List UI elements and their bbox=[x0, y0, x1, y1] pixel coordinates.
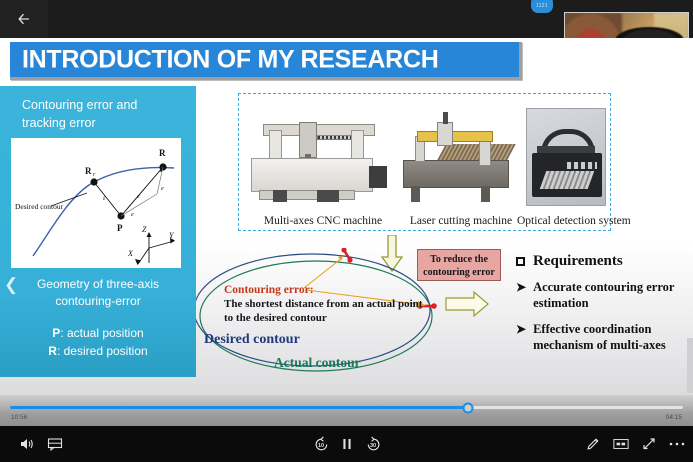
notification-badge[interactable]: 1121 bbox=[531, 0, 553, 13]
remaining-time: 04:15 bbox=[666, 414, 682, 421]
slide-right-edge bbox=[687, 338, 693, 393]
svg-text:ε: ε bbox=[103, 194, 106, 202]
figure-caption: Geometry of three-axis contouring-error bbox=[8, 276, 188, 311]
svg-text:e: e bbox=[161, 186, 164, 192]
recorded-lecture-player: 1121 Cai Yong INTRODUCTION OF MY RESEARC… bbox=[0, 0, 693, 462]
svg-text:Desired contour: Desired contour bbox=[15, 202, 64, 211]
requirement-item: ➤ Effective coordination mechanism of mu… bbox=[516, 322, 693, 353]
volume-button[interactable] bbox=[12, 426, 42, 462]
svg-text:Z: Z bbox=[142, 225, 147, 234]
requirements-title-row: Requirements bbox=[516, 253, 693, 270]
desired-contour-label: Desired contour bbox=[204, 332, 300, 348]
seek-bar-fill bbox=[10, 406, 468, 409]
legend-text-p: : actual position bbox=[60, 326, 143, 340]
optical-detection-image bbox=[526, 108, 606, 206]
pencil-icon bbox=[585, 436, 601, 452]
seek-bar[interactable] bbox=[10, 406, 683, 409]
progress-bar-area: 10:56 04:15 bbox=[0, 395, 693, 426]
requirements-title: Requirements bbox=[533, 253, 623, 270]
expand-icon bbox=[641, 436, 657, 452]
captions-button[interactable] bbox=[606, 426, 636, 462]
requirement-text: Effective coordination mechanism of mult… bbox=[533, 322, 693, 353]
requirement-item: ➤ Accurate contouring error estimation bbox=[516, 280, 693, 311]
elapsed-time: 10:56 bbox=[11, 414, 27, 421]
more-options-button[interactable] bbox=[662, 426, 692, 462]
closed-captions-icon bbox=[613, 437, 629, 451]
slide-title-banner: INTRODUCTION OF MY RESEARCH bbox=[10, 42, 522, 80]
svg-text:R: R bbox=[159, 148, 166, 158]
arrow-bullet-icon: ➤ bbox=[516, 322, 526, 353]
arrow-bullet-icon: ➤ bbox=[516, 280, 526, 311]
slide-content: INTRODUCTION OF MY RESEARCH Contouring e… bbox=[0, 38, 693, 395]
slide-title: INTRODUCTION OF MY RESEARCH bbox=[22, 45, 438, 74]
forward-button[interactable]: 30 bbox=[358, 426, 388, 462]
svg-text:e: e bbox=[131, 212, 134, 218]
cnc-machine-image bbox=[247, 110, 399, 202]
expand-button[interactable] bbox=[634, 426, 664, 462]
back-arrow-icon bbox=[17, 12, 31, 26]
volume-icon bbox=[19, 436, 35, 452]
geometry-diagram-svg: R R r P Desired contour ε e e e Z bbox=[11, 138, 181, 268]
chat-button[interactable] bbox=[40, 426, 70, 462]
chat-icon bbox=[47, 436, 63, 452]
legend-line-r: R: desired position bbox=[8, 342, 188, 360]
legend-text-r: : desired position bbox=[57, 344, 148, 358]
left-info-panel: Contouring error and tracking error R R … bbox=[0, 86, 196, 377]
seek-bar-thumb[interactable] bbox=[462, 402, 473, 413]
back-button[interactable] bbox=[0, 0, 48, 38]
machine-examples-box: Multi-axes CNC machine Laser cutting mac… bbox=[238, 93, 611, 231]
svg-text:e: e bbox=[137, 194, 140, 200]
laser-cutter-image bbox=[397, 110, 521, 202]
more-options-icon bbox=[668, 441, 686, 447]
laser-cutter-caption: Laser cutting machine bbox=[399, 215, 523, 227]
figure-legend: P: actual position R: desired position bbox=[8, 324, 188, 360]
optical-detection-caption: Optical detection system bbox=[517, 215, 611, 227]
contouring-error-geometry-figure: R R r P Desired contour ε e e e Z bbox=[11, 138, 181, 268]
actual-contour-label: Actual contour bbox=[274, 355, 361, 371]
contouring-error-description: The shortest distance from an actual poi… bbox=[224, 298, 429, 326]
svg-text:P: P bbox=[117, 223, 123, 233]
previous-slide-chevron-icon[interactable]: ❮ bbox=[4, 276, 18, 293]
requirements-section: Requirements ➤ Accurate contouring error… bbox=[516, 253, 693, 365]
contouring-error-title: Contouring error: bbox=[224, 284, 314, 296]
forward-seconds-label: 30 bbox=[370, 443, 376, 449]
left-panel-heading: Contouring error and tracking error bbox=[22, 96, 182, 132]
legend-key-r: R bbox=[48, 344, 57, 358]
cnc-machine-caption: Multi-axes CNC machine bbox=[245, 215, 401, 227]
svg-text:X: X bbox=[127, 249, 134, 258]
reduce-error-callout: To reduce the contouring error bbox=[417, 249, 501, 281]
svg-text:Y: Y bbox=[169, 231, 175, 240]
annotate-button[interactable] bbox=[578, 426, 608, 462]
svg-text:r: r bbox=[93, 172, 96, 178]
pause-icon bbox=[340, 437, 354, 451]
legend-line-p: P: actual position bbox=[8, 324, 188, 342]
player-controls-bar: 10 30 bbox=[0, 426, 693, 462]
rewind-seconds-label: 10 bbox=[318, 443, 324, 449]
requirement-text: Accurate contouring error estimation bbox=[533, 280, 693, 311]
square-bullet-icon bbox=[516, 257, 525, 266]
svg-text:R: R bbox=[85, 166, 92, 176]
